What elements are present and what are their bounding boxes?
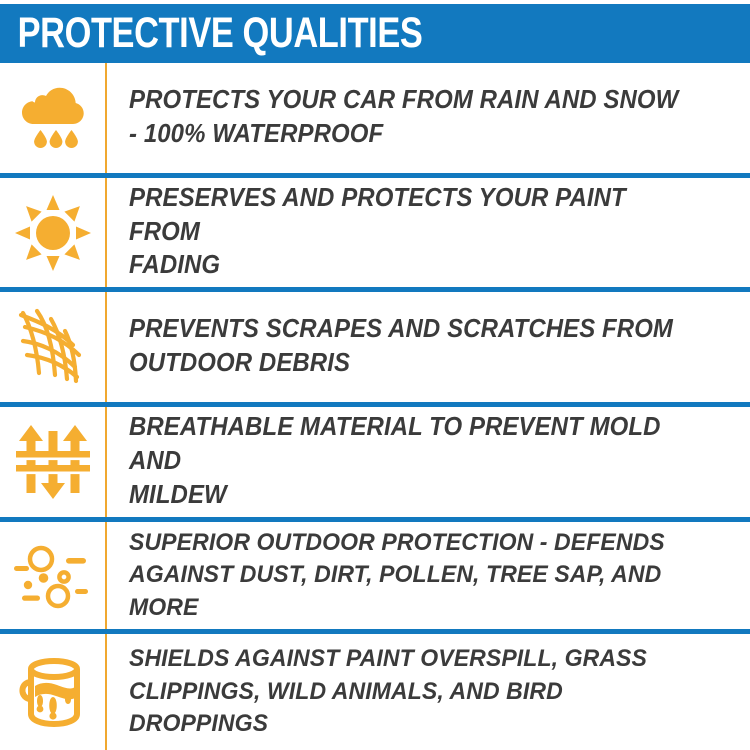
text-cell: PRESERVES AND PROTECTS YOUR PAINT FROM F… [107,182,750,284]
feature-text: BREATHABLE MATERIAL TO PREVENT MOLD AND … [129,411,701,513]
scratch-mesh-icon [13,305,93,389]
header-banner: PROTECTIVE QUALITIES [0,4,750,63]
feature-row-dust-protection: SUPERIOR OUTDOOR PROTECTION - DEFENDS AG… [0,522,750,634]
text-cell: SHIELDS AGAINST PAINT OVERSPILL, GRASS C… [107,643,750,741]
text-cell: PROTECTS YOUR CAR FROM RAIN AND SNOW - 1… [107,84,750,152]
icon-cell [0,522,107,629]
text-cell: BREATHABLE MATERIAL TO PREVENT MOLD AND … [107,411,750,513]
feature-text: SHIELDS AGAINST PAINT OVERSPILL, GRASS C… [129,643,701,741]
icon-cell [0,63,107,173]
feature-row-breathable: BREATHABLE MATERIAL TO PREVENT MOLD AND … [0,407,750,522]
feature-text: PROTECTS YOUR CAR FROM RAIN AND SNOW - 1… [129,84,701,152]
breathable-airflow-icon [12,421,94,503]
icon-cell [0,634,107,750]
rain-cloud-icon [13,78,93,158]
protective-qualities-infographic: PROTECTIVE QUALITIES PROTEC [0,0,750,750]
feature-row-scratches: PREVENTS SCRAPES AND SCRATCHES FROM OUTD… [0,292,750,407]
icon-cell [0,292,107,402]
feature-list: PROTECTS YOUR CAR FROM RAIN AND SNOW - 1… [0,63,750,750]
icon-cell [0,178,107,287]
feature-row-uv-fading: PRESERVES AND PROTECTS YOUR PAINT FROM F… [0,178,750,292]
dust-particles-icon [11,536,95,616]
text-cell: PREVENTS SCRAPES AND SCRATCHES FROM OUTD… [107,313,750,381]
feature-text: PRESERVES AND PROTECTS YOUR PAINT FROM F… [129,182,701,284]
paint-can-icon [13,652,93,732]
feature-row-waterproof: PROTECTS YOUR CAR FROM RAIN AND SNOW - 1… [0,63,750,178]
text-cell: SUPERIOR OUTDOOR PROTECTION - DEFENDS AG… [107,527,750,625]
page-title: PROTECTIVE QUALITIES [0,12,422,55]
icon-cell [0,407,107,517]
sun-icon [13,193,93,273]
feature-text: PREVENTS SCRAPES AND SCRATCHES FROM OUTD… [129,313,701,381]
feature-row-paint-overspill: SHIELDS AGAINST PAINT OVERSPILL, GRASS C… [0,634,750,750]
feature-text: SUPERIOR OUTDOOR PROTECTION - DEFENDS AG… [129,527,701,625]
